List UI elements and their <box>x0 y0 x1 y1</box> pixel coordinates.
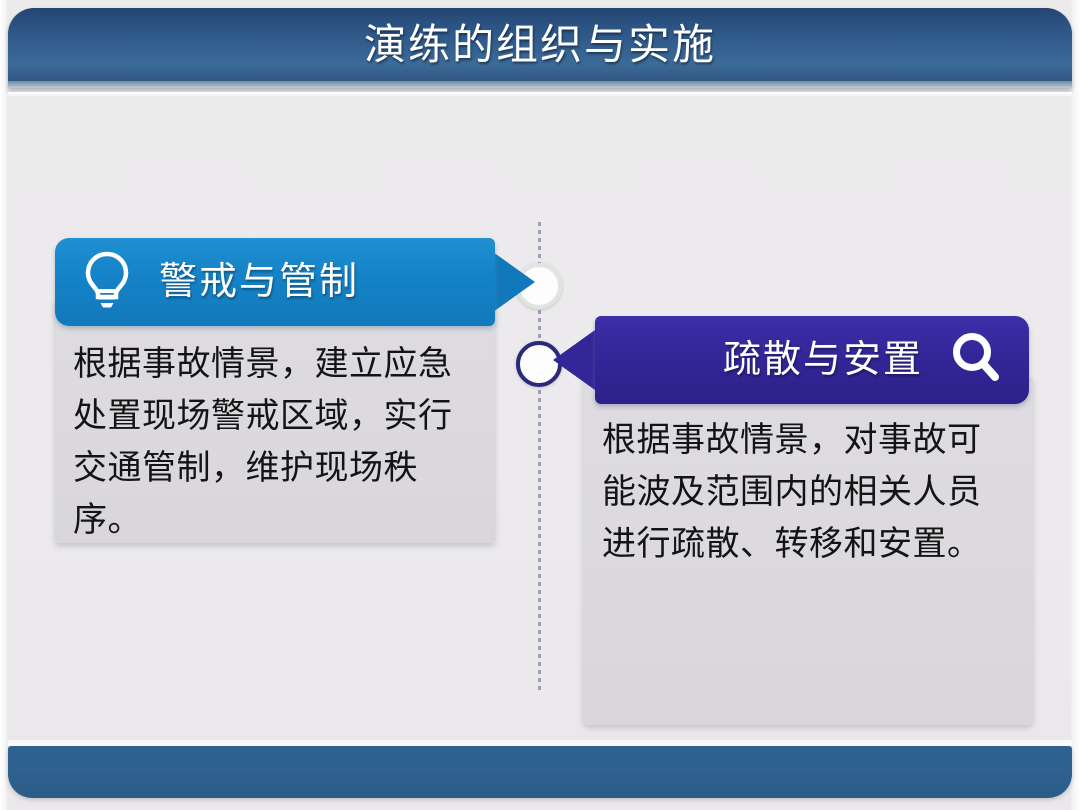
lightbulb-icon <box>81 250 133 315</box>
search-icon <box>949 330 1003 391</box>
slide: 演练的组织与实施 根据事故情景，建立应急 处置现场警戒区域，实行 交通管制，维护… <box>0 0 1080 810</box>
title-underline <box>8 92 1072 96</box>
slide-right-margin <box>1071 0 1080 810</box>
card-header[interactable]: 疏散与安置 <box>595 316 1029 404</box>
card-header-label: 警戒与管制 <box>159 263 359 301</box>
card-pointer-left <box>553 330 595 390</box>
card-pointer-right <box>493 252 535 312</box>
card-body-text: 根据事故情景，建立应急 处置现场警戒区域，实行 交通管制，维护现场秩序。 <box>73 338 485 546</box>
footer-bar <box>8 746 1072 798</box>
card-header[interactable]: 警戒与管制 <box>55 238 495 326</box>
card-body-text: 根据事故情景，对事故可 能波及范围内的相关人员 进行疏散、转移和安置。 <box>602 414 1022 570</box>
slide-left-margin <box>0 0 7 810</box>
title-banner: 演练的组织与实施 <box>8 8 1072 88</box>
page-title: 演练的组织与实施 <box>8 16 1072 74</box>
card-header-label: 疏散与安置 <box>723 341 923 379</box>
